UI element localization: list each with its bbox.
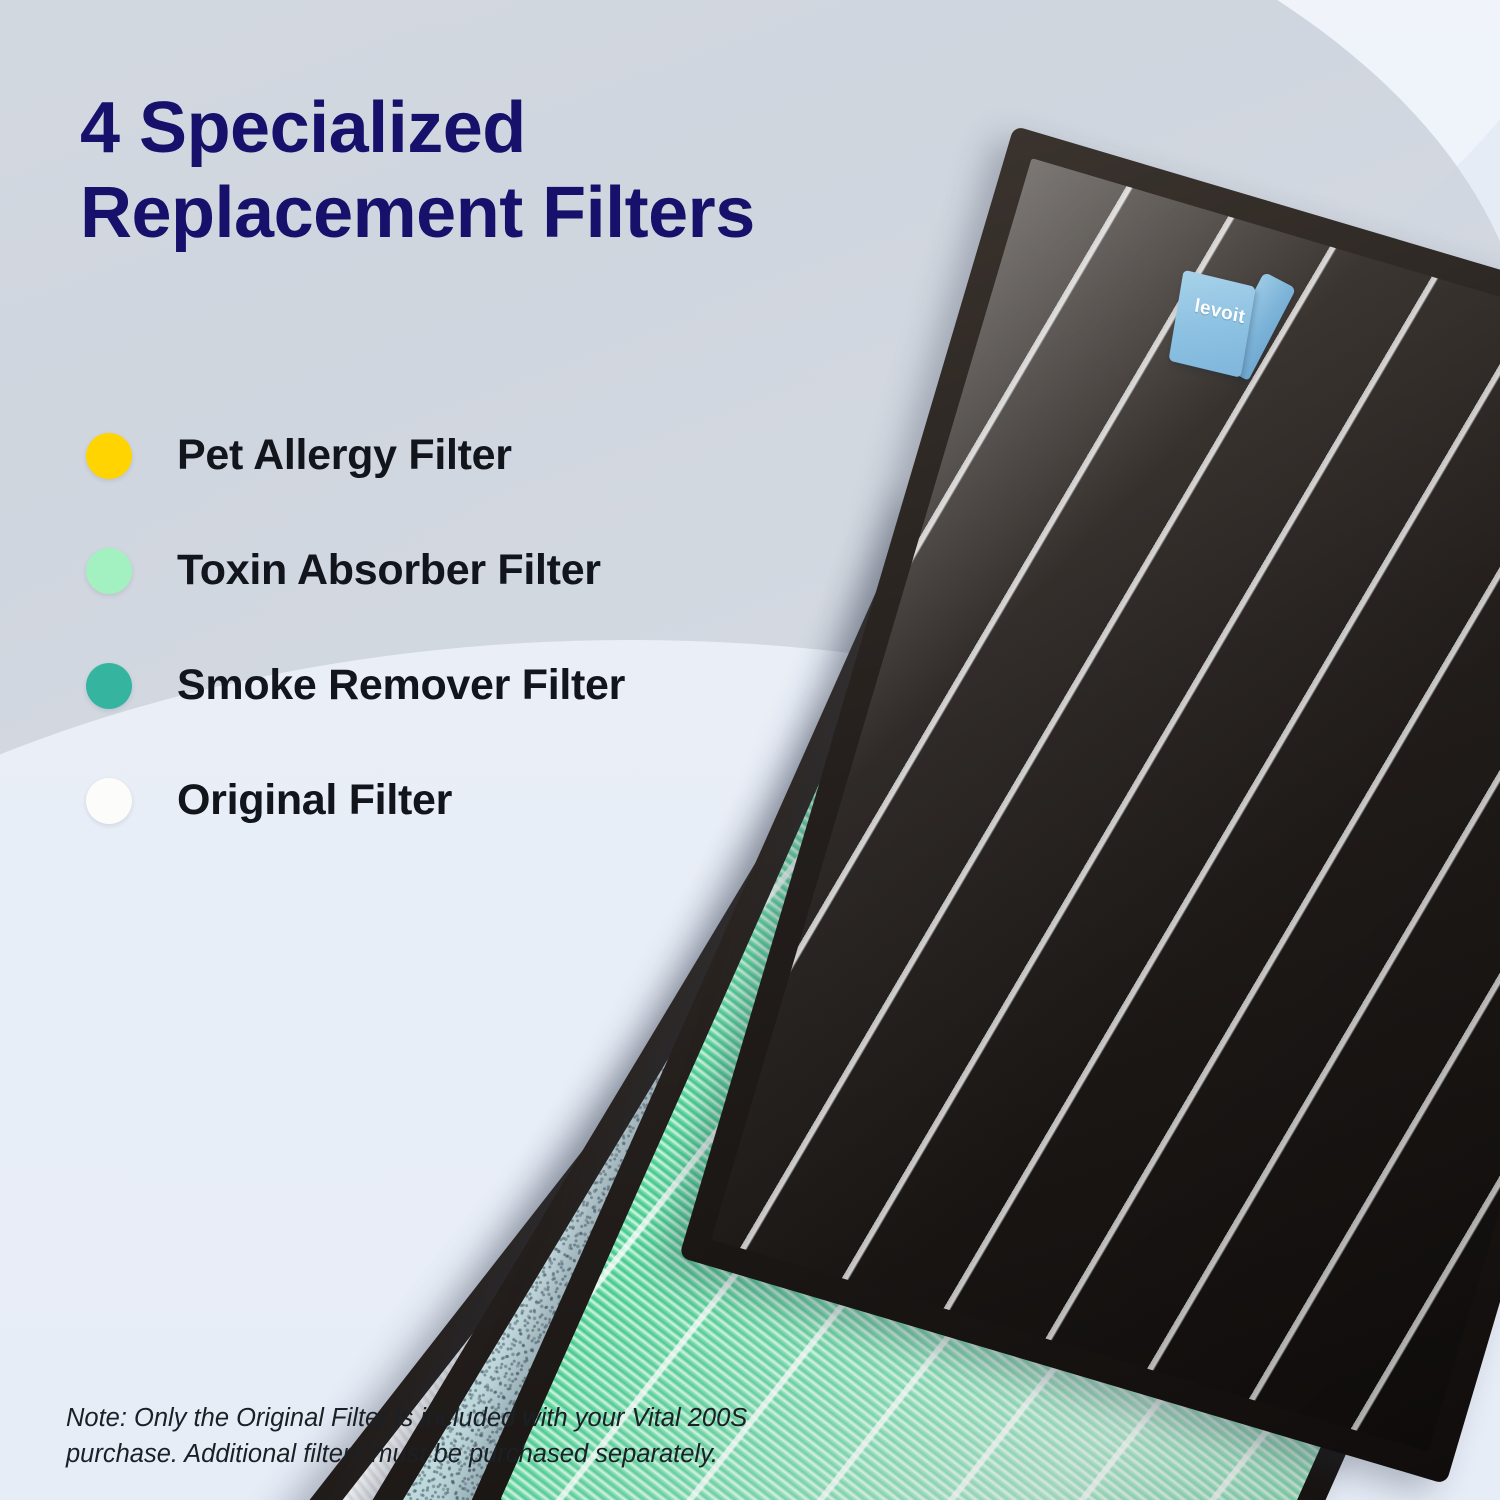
legend-item-pet-allergy: Pet Allergy Filter	[86, 398, 625, 513]
legend-label: Original Filter	[177, 776, 452, 825]
page-title: 4 Specialized Replacement Filters	[80, 86, 980, 256]
legend-label: Smoke Remover Filter	[177, 661, 625, 710]
legend-label: Pet Allergy Filter	[177, 431, 512, 480]
filter-legend-list: Pet Allergy Filter Toxin Absorber Filter…	[86, 398, 625, 858]
bullet-dot-icon	[86, 433, 132, 479]
legend-item-smoke-remover: Smoke Remover Filter	[86, 628, 625, 743]
legend-item-original: Original Filter	[86, 743, 625, 858]
footnote-text: Note: Only the Original Filter is includ…	[66, 1400, 766, 1472]
legend-label: Toxin Absorber Filter	[177, 546, 601, 595]
bullet-dot-icon	[86, 778, 132, 824]
bullet-dot-icon	[86, 663, 132, 709]
headline-line-1: 4 Specialized	[80, 86, 980, 171]
headline-line-2: Replacement Filters	[80, 171, 980, 256]
bullet-dot-icon	[86, 548, 132, 594]
promo-image-canvas: levoit 4 Specialized Replacement Filters…	[0, 0, 1500, 1500]
legend-item-toxin-absorber: Toxin Absorber Filter	[86, 513, 625, 628]
